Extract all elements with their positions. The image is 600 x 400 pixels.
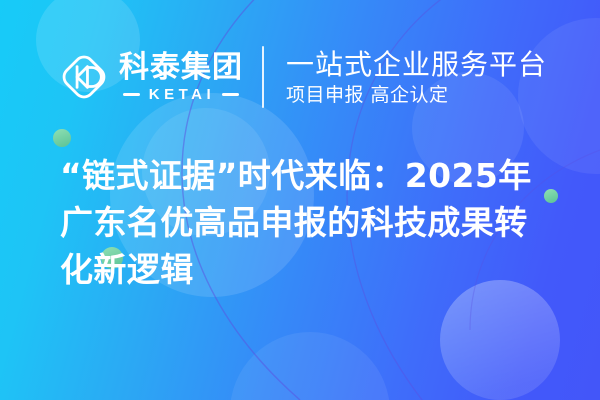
banner-header: 科泰集团 KETAI 一站式企业服务平台 项目申报 高企认定 <box>0 36 600 118</box>
logo-wordmark: 科泰集团 KETAI <box>119 52 243 102</box>
logo-rule-right <box>222 93 239 96</box>
green-dot-left <box>53 129 71 147</box>
tagline-main: 一站式企业服务平台 <box>286 48 547 81</box>
logo-rule-left <box>123 93 140 96</box>
header-divider <box>262 46 264 108</box>
logo-english-row: KETAI <box>119 87 243 102</box>
pale-circle-bottom-edge <box>230 332 390 400</box>
company-logo: 科泰集团 KETAI <box>58 51 243 103</box>
logo-chinese-name: 科泰集团 <box>119 52 243 84</box>
ketai-kd-monogram-icon <box>58 51 110 103</box>
promo-banner: 科泰集团 KETAI 一站式企业服务平台 项目申报 高企认定 “链式证据”时代来… <box>0 0 600 400</box>
tagline-block: 一站式企业服务平台 项目申报 高企认定 <box>286 48 547 107</box>
tagline-sub: 项目申报 高企认定 <box>286 83 547 107</box>
page-title: “链式证据”时代来临：2025年广东名优高品申报的科技成果转化新逻辑 <box>60 152 560 293</box>
logo-english-name: KETAI <box>149 87 215 102</box>
pale-circle-bottom-right <box>440 280 560 400</box>
